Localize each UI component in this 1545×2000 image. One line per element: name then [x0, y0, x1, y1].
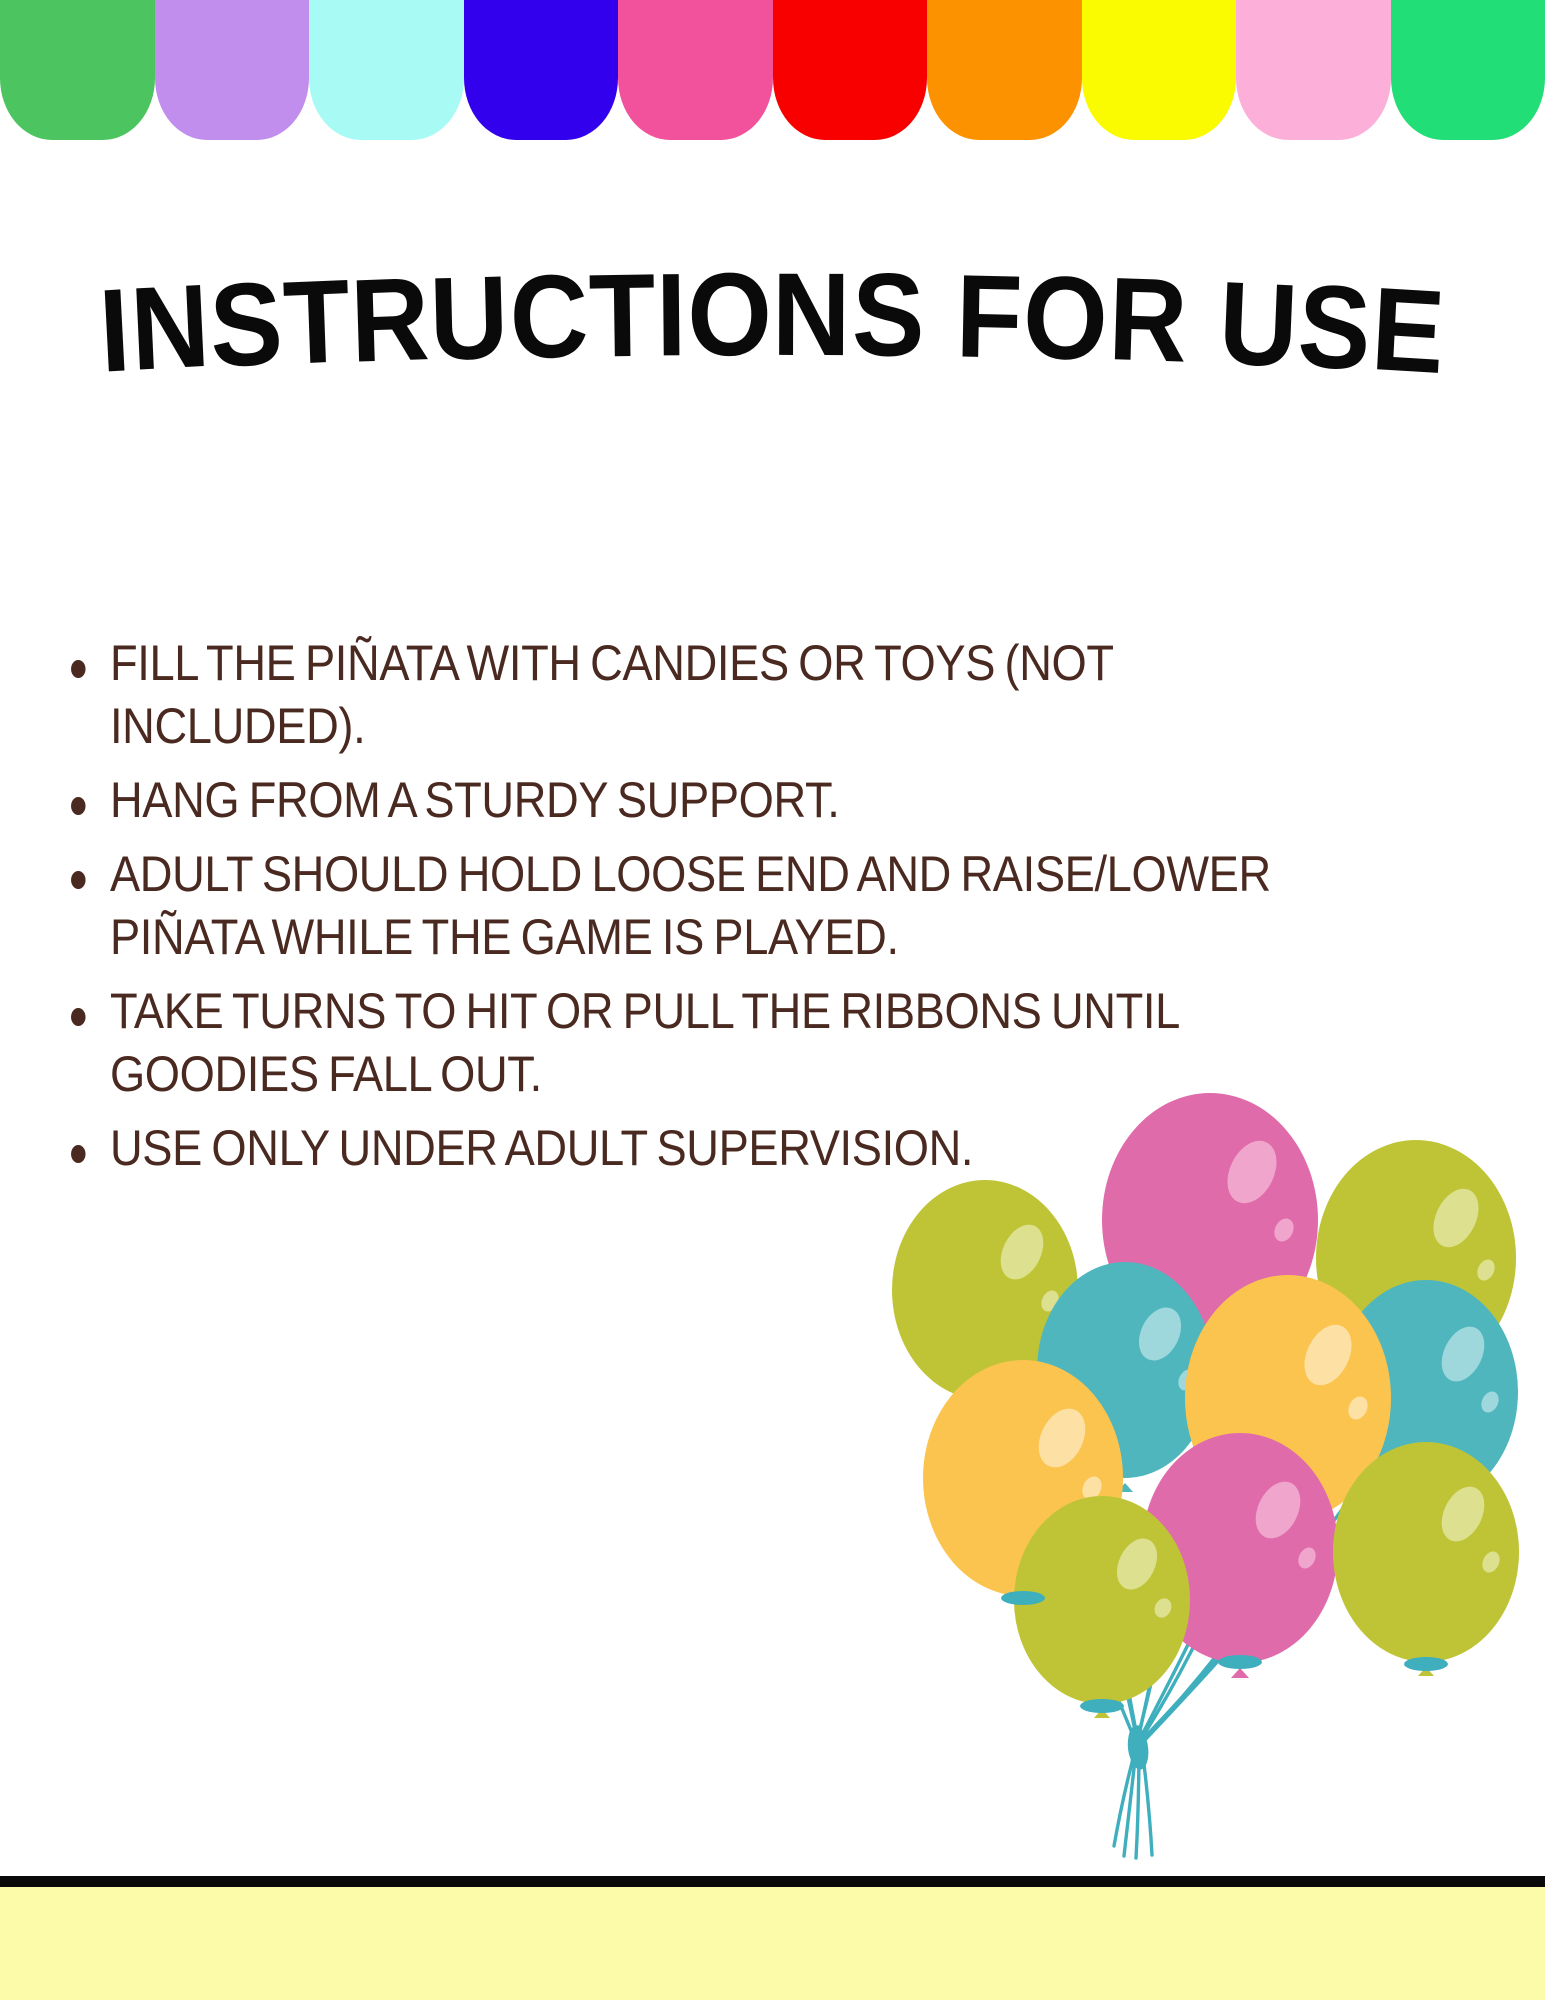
title-char: T	[281, 262, 352, 383]
title-char: U	[1217, 264, 1301, 386]
balloon-string	[983, 1281, 1135, 1740]
title-char: N	[128, 267, 213, 389]
balloon-strings	[983, 1281, 1420, 1858]
balloon	[1037, 1262, 1213, 1492]
string-knot	[1128, 1725, 1149, 1770]
instruction-text: HANG FROM A STURDY SUPPORT.	[110, 769, 1320, 832]
bottom-color-band	[0, 1887, 1545, 2000]
scallop-banner	[0, 0, 1545, 140]
page-title-text: INSTRUCTIONS FOR USE	[100, 272, 1445, 390]
string-tail	[1124, 1740, 1137, 1856]
title-char: R	[1107, 260, 1190, 381]
string-tail	[1114, 1740, 1138, 1846]
bullet-dot-icon	[71, 1008, 85, 1026]
balloon-string	[1093, 1532, 1137, 1740]
balloon	[1185, 1275, 1391, 1536]
title-char: R	[349, 260, 432, 381]
balloon-collars	[1001, 1591, 1448, 1713]
instruction-item: ADULT SHOULD HOLD LOOSE END AND RAISE/LO…	[62, 843, 1320, 969]
balloon-string	[1140, 1355, 1284, 1741]
title-char: O	[687, 256, 773, 374]
title-char: S	[208, 264, 286, 385]
scallop-blue	[464, 0, 619, 140]
balloon	[1014, 1496, 1190, 1718]
title-char: O	[1022, 258, 1110, 378]
string-tail	[1141, 1740, 1152, 1855]
title-char	[924, 257, 957, 375]
balloon	[1333, 1442, 1519, 1676]
title-char: N	[772, 256, 852, 374]
title-char: I	[655, 256, 687, 374]
balloon-string	[1138, 1320, 1210, 1740]
balloon-string	[1090, 1385, 1138, 1742]
instruction-text: USE ONLY UNDER ADULT SUPERVISION.	[110, 1117, 1320, 1180]
balloon-string	[1142, 1380, 1420, 1743]
scallop-yellow	[1082, 0, 1237, 140]
balloon-string	[1139, 1470, 1258, 1741]
instruction-item: HANG FROM A STURDY SUPPORT.	[62, 769, 1320, 832]
balloon-string	[1137, 1500, 1180, 1740]
balloon	[1334, 1280, 1518, 1518]
balloon	[1142, 1433, 1338, 1678]
bullet-dot-icon	[71, 871, 85, 889]
title-char: F	[955, 257, 1024, 376]
scallop-orange	[927, 0, 1082, 140]
title-char: U	[429, 258, 511, 378]
scallop-pink	[618, 0, 773, 140]
instruction-text: TAKE TURNS TO HIT OR PULL THE RIBBONS UN…	[110, 980, 1320, 1106]
scallop-spring-green	[1391, 0, 1545, 140]
title-char	[1186, 263, 1221, 382]
title-char: E	[1369, 270, 1448, 392]
instruction-item: TAKE TURNS TO HIT OR PULL THE RIBBONS UN…	[62, 980, 1320, 1106]
balloon	[923, 1360, 1123, 1612]
title-char: S	[851, 256, 925, 375]
instruction-text: FILL THE PIÑATA WITH CANDIES OR TOYS (NO…	[110, 632, 1320, 758]
instructions-list: FILL THE PIÑATA WITH CANDIES OR TOYS (NO…	[62, 632, 1452, 1191]
instruction-text: ADULT SHOULD HOLD LOOSE END AND RAISE/LO…	[110, 843, 1320, 969]
bottom-divider	[0, 1876, 1545, 1887]
balloon-string	[1140, 1520, 1320, 1742]
scallop-red	[773, 0, 928, 140]
bullet-dot-icon	[71, 660, 85, 678]
title-char: T	[588, 257, 657, 376]
title-char: S	[1296, 267, 1375, 389]
bullet-dot-icon	[71, 1145, 85, 1163]
balloon-string	[1141, 1435, 1344, 1742]
instruction-item: USE ONLY UNDER ADULT SUPERVISION.	[62, 1117, 1320, 1180]
scallop-green	[0, 0, 155, 140]
scallop-light-pink	[1236, 0, 1391, 140]
balloon	[892, 1180, 1078, 1414]
scallop-aqua	[309, 0, 464, 140]
bullet-dot-icon	[71, 797, 85, 815]
title-char: C	[508, 257, 590, 377]
instruction-item: FILL THE PIÑATA WITH CANDIES OR TOYS (NO…	[62, 632, 1320, 758]
string-tail	[1136, 1740, 1139, 1858]
page-title: INSTRUCTIONS FOR USE	[62, 272, 1483, 390]
scallop-lavender	[155, 0, 310, 140]
